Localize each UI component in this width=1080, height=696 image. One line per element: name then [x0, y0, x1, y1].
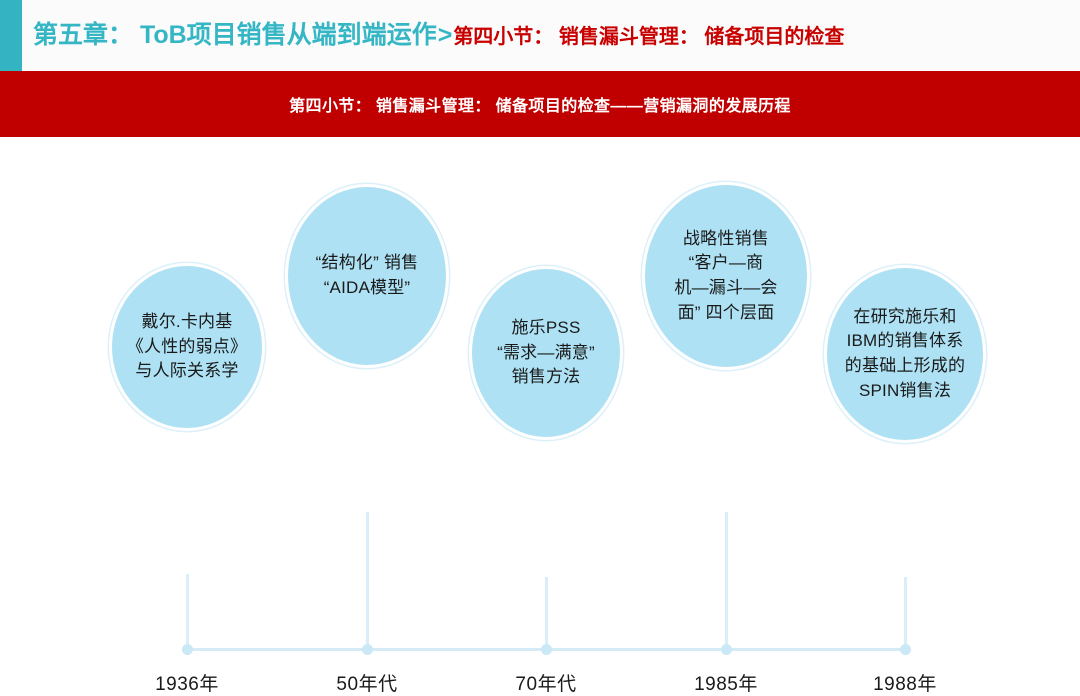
breadcrumb-separator-icon: >	[437, 23, 454, 48]
slide-canvas: 第五章： ToB项目销售从端到端运作 > 第四小节： 销售漏斗管理： 储备项目的…	[0, 0, 1080, 608]
breadcrumb: 第五章： ToB项目销售从端到端运作 > 第四小节： 销售漏斗管理： 储备项目的…	[33, 0, 844, 71]
timeline-bubble-5[interactable]: 在研究施乐和 IBM的销售体系 的基础上形成的 SPIN销售法	[827, 268, 983, 440]
timeline-bubble-3-text: 施乐PSS “需求—满意” 销售方法	[487, 316, 605, 390]
timeline-bubble-5-text: 在研究施乐和 IBM的销售体系 的基础上形成的 SPIN销售法	[835, 305, 975, 404]
timeline-stem-1	[186, 574, 189, 649]
timeline-node-dot-5	[900, 644, 911, 655]
timeline-stem-2	[366, 512, 369, 649]
timeline-year-2: 50年代	[336, 669, 397, 696]
timeline-year-3: 70年代	[515, 669, 576, 696]
timeline-node-dot-4	[721, 644, 732, 655]
timeline-node-dot-1	[182, 644, 193, 655]
header-band: 第五章： ToB项目销售从端到端运作 > 第四小节： 销售漏斗管理： 储备项目的…	[0, 0, 1080, 71]
section-banner: 第四小节： 销售漏斗管理： 储备项目的检查——营销漏洞的发展历程	[0, 71, 1080, 137]
header-accent-bar	[0, 0, 22, 71]
breadcrumb-chapter[interactable]: 第五章： ToB项目销售从端到端运作	[33, 23, 437, 48]
timeline-stem-4	[725, 512, 728, 649]
timeline-stem-5	[904, 577, 907, 649]
timeline-bubble-2[interactable]: “结构化” 销售 “AIDA模型”	[288, 187, 446, 365]
timeline-bubble-2-text: “结构化” 销售 “AIDA模型”	[306, 251, 429, 300]
timeline-bubble-4-text: 战略性销售 “客户—商 机—漏斗—会 面” 四个层面	[664, 227, 787, 326]
timeline-stem-3	[545, 577, 548, 649]
section-banner-title: 第四小节： 销售漏斗管理： 储备项目的检查——营销漏洞的发展历程	[289, 92, 791, 116]
timeline-year-5: 1988年	[873, 669, 937, 696]
timeline-year-1: 1936年	[155, 669, 219, 696]
timeline-bubble-4[interactable]: 战略性销售 “客户—商 机—漏斗—会 面” 四个层面	[645, 185, 807, 367]
timeline-bubble-1[interactable]: 戴尔.卡内基 《人性的弱点》 与人际关系学	[112, 266, 262, 428]
timeline-node-dot-2	[362, 644, 373, 655]
timeline-bubble-3[interactable]: 施乐PSS “需求—满意” 销售方法	[472, 269, 620, 437]
timeline-bubble-1-text: 戴尔.卡内基 《人性的弱点》 与人际关系学	[117, 310, 257, 384]
timeline-node-dot-3	[541, 644, 552, 655]
breadcrumb-section[interactable]: 第四小节： 销售漏斗管理： 储备项目的检查	[453, 27, 844, 47]
timeline-year-4: 1985年	[694, 669, 758, 696]
timeline-diagram: 戴尔.卡内基 《人性的弱点》 与人际关系学 “结构化” 销售 “AIDA模型” …	[0, 137, 1080, 608]
